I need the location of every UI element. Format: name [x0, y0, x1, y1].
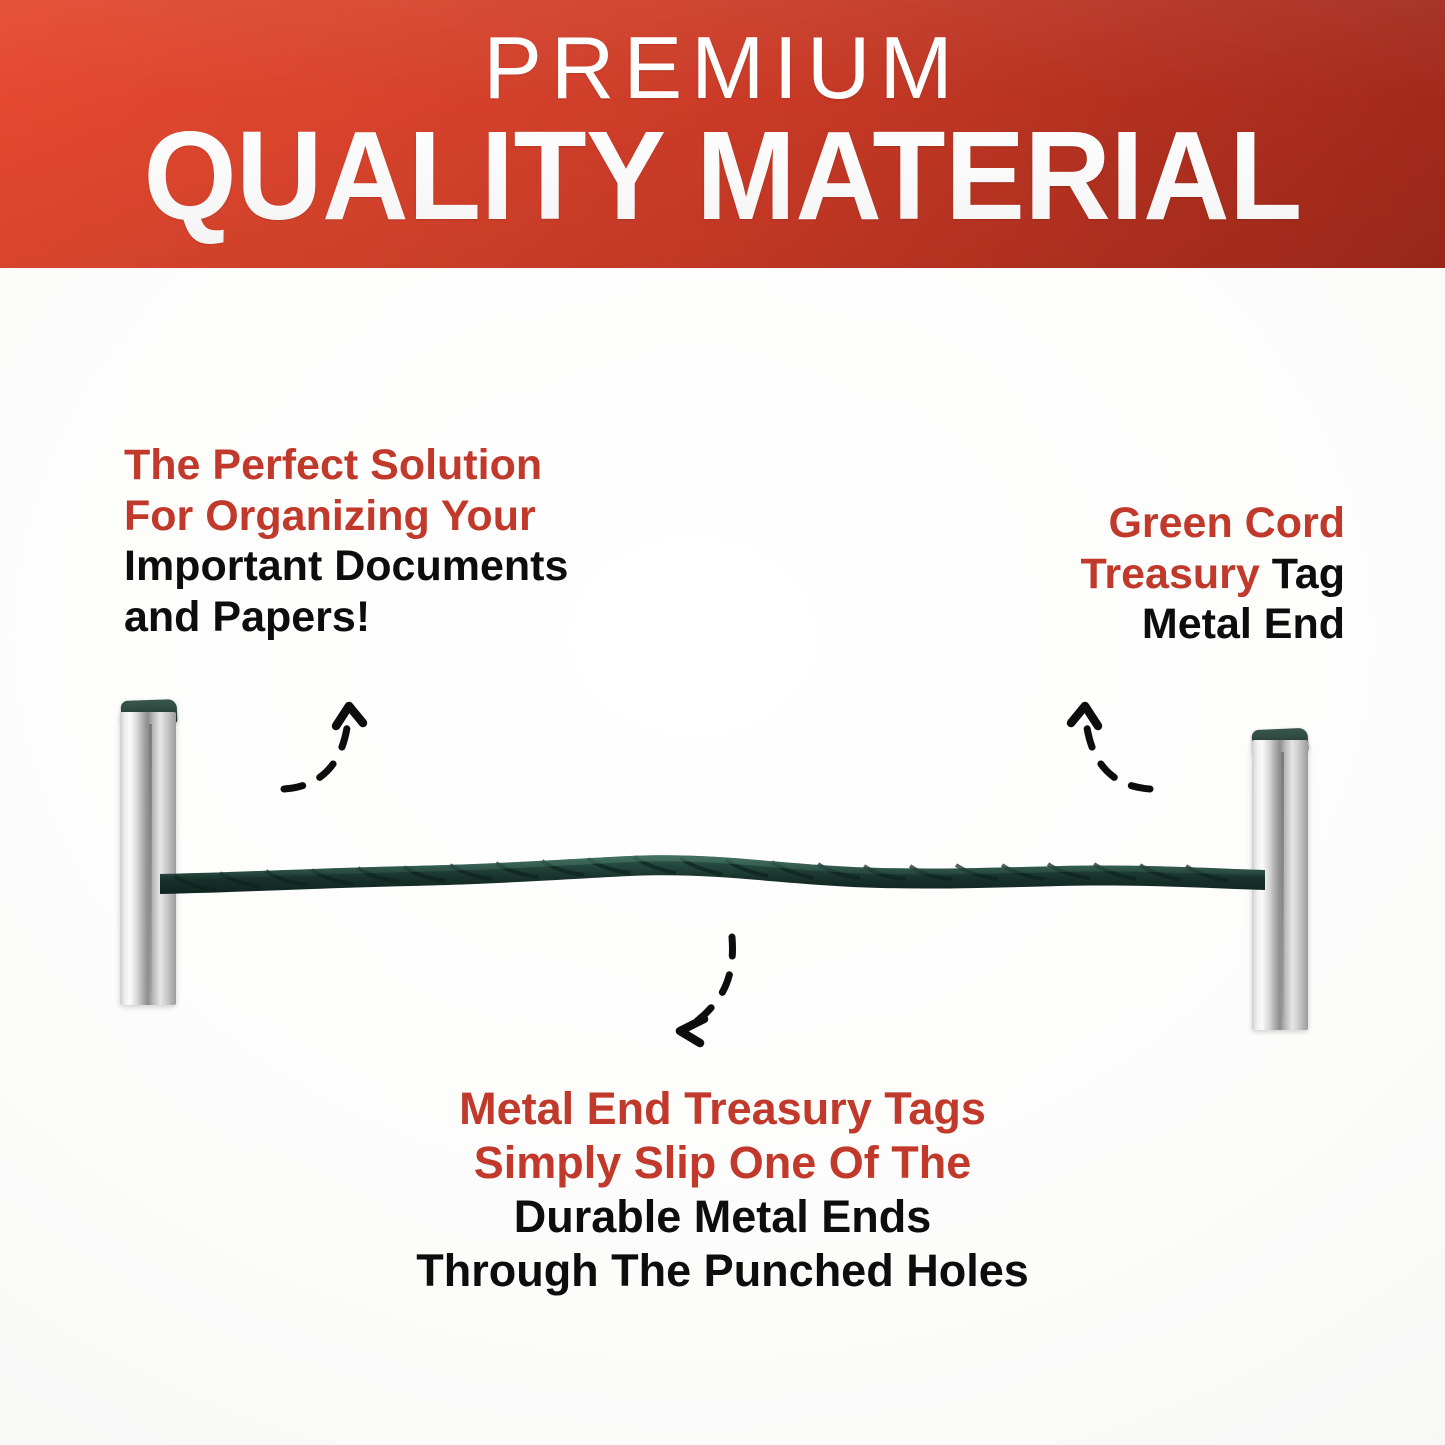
callout-left-line-3: Important Documents — [124, 541, 764, 592]
metal-end-right-green-tip — [1252, 728, 1309, 754]
header-banner-content: PREMIUM QUALITY MATERIAL — [0, 0, 1445, 268]
metal-end-right-bar — [1252, 740, 1308, 1030]
arrow-to-bottom-callout-icon — [660, 925, 770, 1050]
callout-right-line-2-dark: Tag — [1272, 550, 1345, 598]
callout-left-line-1: The Perfect Solution — [124, 440, 764, 491]
callout-right-text: Green Cord Treasury Tag Metal End — [925, 498, 1345, 650]
callout-right-line-3: Metal End — [925, 599, 1345, 650]
infographic-page: PREMIUM QUALITY MATERIAL — [0, 0, 1445, 1445]
metal-end-left-bar — [120, 712, 176, 1005]
cord-highlight — [160, 855, 1265, 880]
green-cord — [160, 834, 1265, 910]
callout-bottom-line-1: Metal End Treasury Tags — [0, 1082, 1445, 1136]
metal-end-left-green-tip — [121, 699, 178, 725]
arrow-to-left-callout-icon — [268, 690, 378, 810]
callout-left-line-4: and Papers! — [124, 592, 764, 643]
callout-bottom-line-2: Simply Slip One Of The — [0, 1136, 1445, 1190]
cord-twist-strands — [174, 857, 1228, 890]
banner-title-line-2: QUALITY MATERIAL — [143, 116, 1301, 236]
callout-left-line-2: For Organizing Your — [124, 491, 764, 542]
callout-right-line-2: Treasury Tag — [925, 549, 1345, 600]
callout-bottom-line-4: Through The Punched Holes — [0, 1244, 1445, 1298]
arrow-bottom-head — [680, 1019, 704, 1043]
callout-bottom-text: Metal End Treasury Tags Simply Slip One … — [0, 1082, 1445, 1298]
arrow-right-head — [1071, 706, 1098, 726]
callout-right-line-1: Green Cord — [925, 498, 1345, 549]
arrow-bottom-shaft — [688, 937, 732, 1027]
callout-bottom-line-3: Durable Metal Ends — [0, 1190, 1445, 1244]
callout-left-text: The Perfect Solution For Organizing Your… — [124, 440, 764, 643]
arrow-left-head — [336, 706, 363, 726]
banner-title-line-1: PREMIUM — [483, 26, 962, 110]
green-cord-svg — [160, 834, 1265, 910]
arrow-to-right-callout-icon — [1056, 690, 1166, 810]
callout-right-line-2-red: Treasury — [1081, 550, 1272, 598]
cord-body — [160, 855, 1265, 894]
header-banner: PREMIUM QUALITY MATERIAL — [0, 0, 1445, 268]
